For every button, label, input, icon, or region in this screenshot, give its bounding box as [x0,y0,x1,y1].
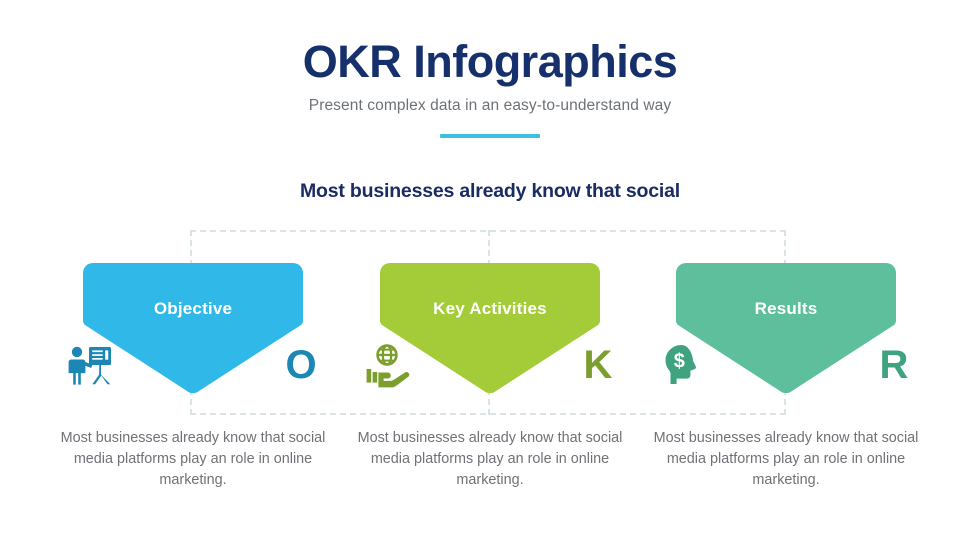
column-body-results: Most businesses already know that social… [637,428,935,491]
column-body-objective: Most businesses already know that social… [44,428,342,491]
icon-row-objective: O [83,337,303,393]
svg-text:$: $ [674,351,685,373]
okr-letter-k: K [574,337,622,393]
okr-letter-o: O [277,337,325,393]
icon-row-key-activities: K [380,337,600,393]
head-dollar-icon: $ [659,341,707,389]
okr-column-results[interactable]: Results $ R Most businesses already know… [637,263,935,491]
hand-holding-globe-icon [363,341,411,389]
presenter-board-icon [66,341,114,389]
okr-column-objective[interactable]: Objective [44,263,342,491]
okr-columns: Objective [0,0,980,551]
okr-letter-r: R [870,337,918,393]
column-body-key-activities: Most businesses already know that social… [341,428,639,491]
icon-row-results: $ R [676,337,896,393]
okr-column-key-activities[interactable]: Key Activities K [341,263,639,491]
